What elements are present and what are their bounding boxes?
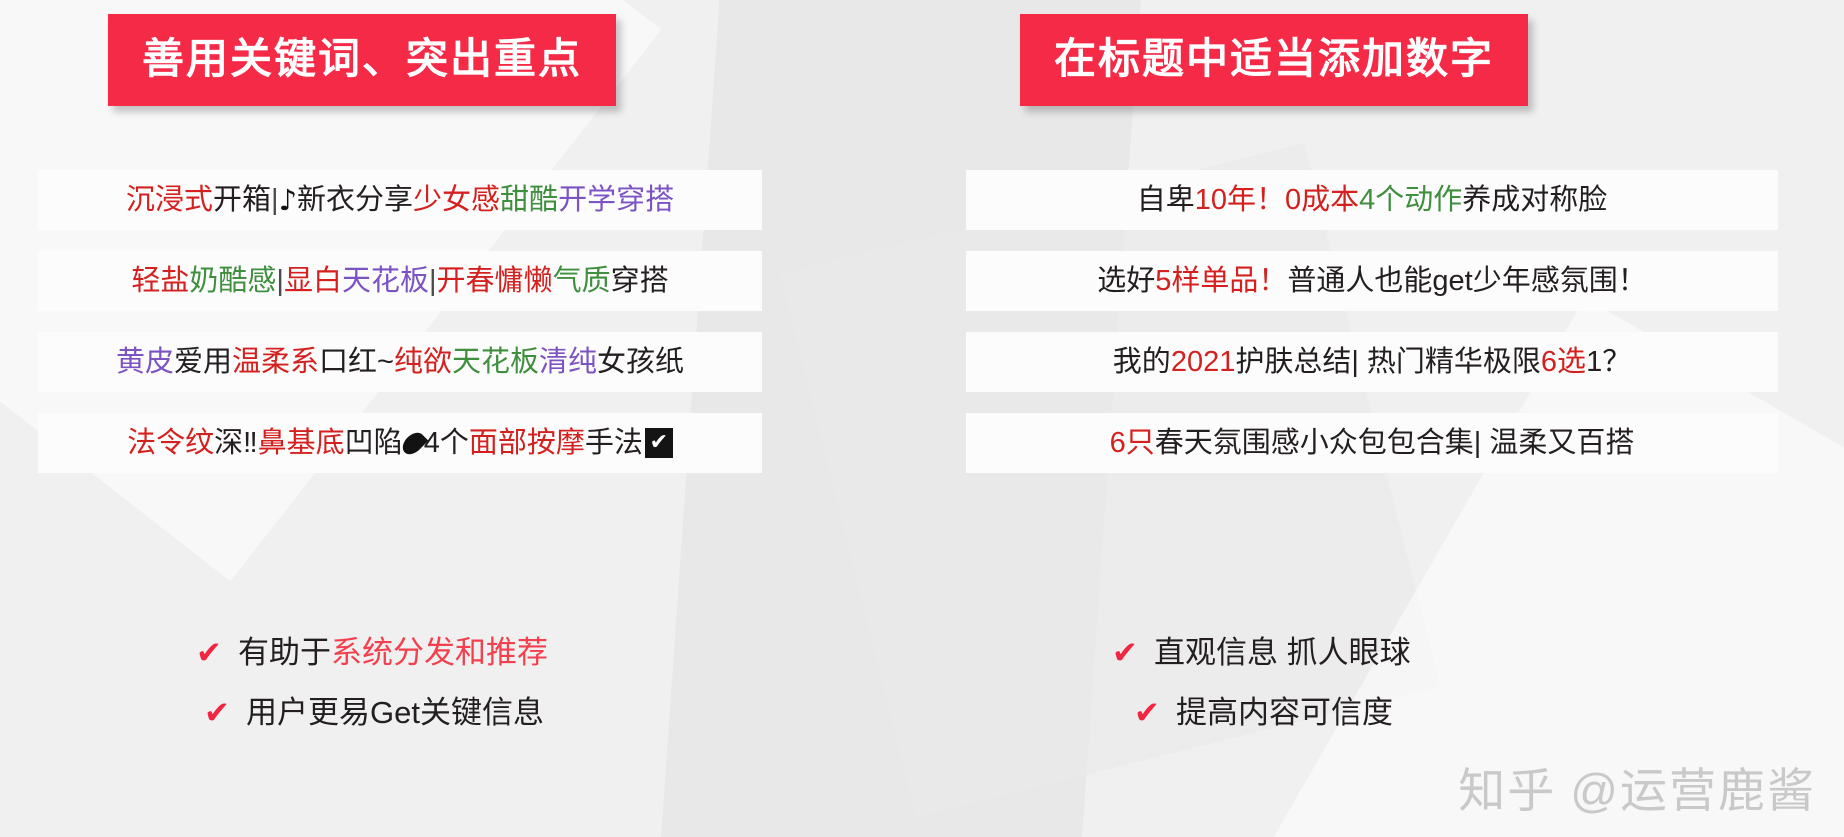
title-text-segment: 女孩纸 (597, 348, 684, 377)
title-text-segment: 显白 (284, 267, 342, 296)
title-example-row[interactable]: 自卑10年！ 0成本4个动作养成对称脸 (966, 170, 1778, 230)
watermark: 知乎@运营鹿酱 (1458, 752, 1816, 821)
check-mark-box-emoji-icon: ✔ (645, 428, 673, 458)
title-text-segment: 面部按摩 (469, 429, 585, 458)
title-text-segment: 6选 (1541, 348, 1586, 377)
benefit-text-segment: 有助于 (238, 635, 331, 670)
title-text-segment: 少女感 (413, 186, 500, 215)
title-text-segment: 爱用 (174, 348, 232, 377)
title-text-segment: 清纯 (539, 348, 597, 377)
title-text-segment: 甜酷 (500, 186, 558, 215)
title-text-segment: 开学穿搭 (558, 186, 674, 215)
title-example-row[interactable]: 沉浸式开箱 | ♪新衣分享 少女感甜酷开学穿搭 (38, 170, 762, 230)
title-text-segment: 养成对称脸 (1462, 186, 1607, 215)
title-text-segment: 奶酷感 (189, 267, 276, 296)
check-mark-icon: ✔ (196, 636, 222, 670)
watermark-handle: @运营鹿酱 (1570, 764, 1816, 817)
title-text-segment: 自卑 (1137, 186, 1195, 215)
benefit-label: 直观信息 抓人眼球 (1154, 636, 1411, 670)
title-text-segment: 护肤总结| 热门精华极限 (1235, 348, 1541, 377)
title-text-segment: 深‼ (214, 429, 258, 458)
panel-keywords: 善用关键词、突出重点 沉浸式开箱 | ♪新衣分享 少女感甜酷开学穿搭轻盐奶酷感 … (0, 0, 922, 837)
panel-header-keywords: 善用关键词、突出重点 (108, 14, 616, 106)
title-text-segment: | (429, 267, 437, 296)
title-text-segment: 开春慵懒 (437, 267, 553, 296)
benefit-text-segment: 提高内容可信度 (1176, 695, 1393, 730)
title-text-segment: 新衣分享 (297, 186, 413, 215)
title-text-segment: 凹陷 (345, 429, 403, 458)
benefit-list-numbers: ✔直观信息 抓人眼球✔提高内容可信度 (922, 636, 1844, 756)
title-text-segment: 0成本 (1285, 186, 1359, 215)
title-text-segment: 手法 (585, 429, 643, 458)
watermark-brand: 知乎 (1458, 764, 1556, 817)
title-text-segment: 春天氛围感小众包包合集| 温柔又百搭 (1155, 429, 1635, 458)
title-text-segment: 开箱 (213, 186, 271, 215)
panel-columns: 善用关键词、突出重点 沉浸式开箱 | ♪新衣分享 少女感甜酷开学穿搭轻盐奶酷感 … (0, 0, 1844, 837)
benefit-text-segment: 系统分发和推荐 (331, 635, 548, 670)
title-example-row[interactable]: 黄皮爱用温柔系口红~纯欲天花板清纯女孩纸 (38, 332, 762, 392)
benefit-label: 提高内容可信度 (1176, 696, 1393, 730)
benefit-text-segment: 用户更易Get关键信息 (246, 695, 544, 730)
benefit-label: 用户更易Get关键信息 (246, 696, 544, 730)
slide-canvas: 善用关键词、突出重点 沉浸式开箱 | ♪新衣分享 少女感甜酷开学穿搭轻盐奶酷感 … (0, 0, 1844, 837)
title-text-segment: 气质 (553, 267, 611, 296)
title-text-segment: 天花板 (342, 267, 429, 296)
title-text-segment: 我的 (1113, 348, 1171, 377)
title-text-segment: 法令纹 (127, 429, 214, 458)
title-example-row[interactable]: 选好5样单品！ 普通人也能get少年感氛围！ (966, 251, 1778, 311)
check-mark-icon: ✔ (1134, 696, 1160, 730)
music-note-icon: ♪ (279, 186, 298, 215)
title-text-segment: 黄皮 (116, 348, 174, 377)
title-text-segment: 纯欲 (394, 348, 452, 377)
title-example-row[interactable]: 轻盐奶酷感 | 显白天花板 | 开春慵懒气质穿搭 (38, 251, 762, 311)
title-text-segment: 2021 (1171, 348, 1236, 377)
title-example-row[interactable]: 法令纹深‼鼻基底凹陷4个面部按摩手法✔ (38, 413, 762, 473)
title-text-segment: | (276, 267, 284, 296)
title-text-segment: 5样单品！ (1155, 267, 1287, 296)
title-text-segment: 4个动作 (1359, 186, 1462, 215)
title-text-segment: 6只 (1110, 429, 1155, 458)
title-text-segment: 4个 (424, 429, 469, 458)
title-example-list-numbers: 自卑10年！ 0成本4个动作养成对称脸选好5样单品！ 普通人也能get少年感氛围… (922, 170, 1844, 494)
title-example-row[interactable]: 6只春天氛围感小众包包合集| 温柔又百搭 (966, 413, 1778, 473)
title-text-segment: 普通人也能get少年感氛围！ (1287, 267, 1646, 296)
benefit-label: 有助于系统分发和推荐 (238, 636, 548, 670)
check-mark-icon: ✔ (204, 696, 230, 730)
title-text-segment: 温柔系 (232, 348, 319, 377)
title-text-segment: 轻盐 (131, 267, 189, 296)
title-example-list-keywords: 沉浸式开箱 | ♪新衣分享 少女感甜酷开学穿搭轻盐奶酷感 | 显白天花板 | 开… (0, 170, 922, 494)
panel-header-numbers: 在标题中适当添加数字 (1020, 14, 1528, 106)
title-text-segment: 选好 (1097, 267, 1155, 296)
title-text-segment: 鼻基底 (258, 429, 345, 458)
benefit-item: ✔提高内容可信度 (1134, 696, 1844, 730)
title-text-segment: 10年！ (1195, 186, 1285, 215)
check-mark-icon: ✔ (1112, 636, 1138, 670)
title-text-segment: 口红~ (319, 348, 394, 377)
benefit-text-segment: 直观信息 抓人眼球 (1154, 635, 1411, 670)
title-text-segment: 天花板 (452, 348, 539, 377)
title-example-row[interactable]: 我的2021护肤总结| 热门精华极限6选1？ (966, 332, 1778, 392)
title-text-segment: | (271, 186, 279, 215)
title-text-segment: 1？ (1586, 348, 1631, 377)
title-text-segment: 穿搭 (611, 267, 669, 296)
title-text-segment: 沉浸式 (126, 186, 213, 215)
panel-numbers: 在标题中适当添加数字 自卑10年！ 0成本4个动作养成对称脸选好5样单品！ 普通… (922, 0, 1844, 837)
benefit-item: ✔直观信息 抓人眼球 (1112, 636, 1844, 670)
